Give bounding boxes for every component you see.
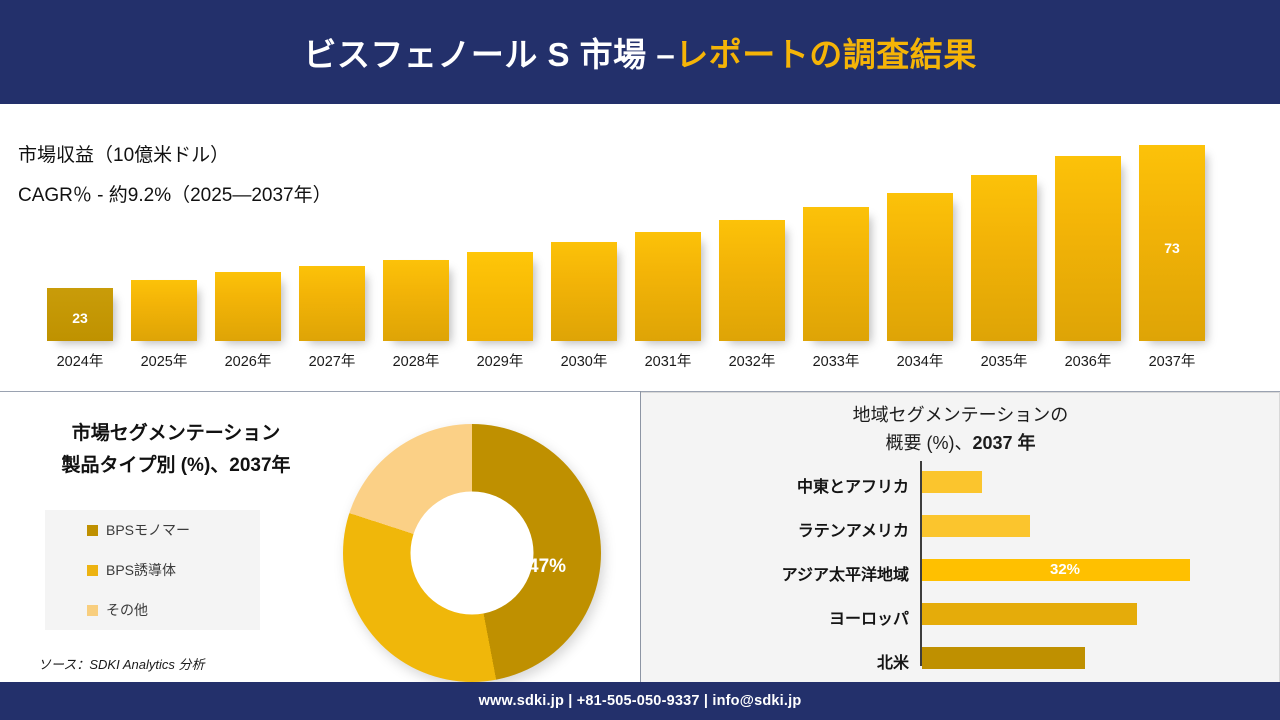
revenue-bar (467, 252, 533, 341)
legend-swatch-icon (87, 605, 98, 616)
donut-chart-wrapper: 47% (332, 414, 622, 682)
revenue-bar-category-label: 2035年 (971, 350, 1037, 371)
regional-bar (922, 471, 982, 493)
revenue-bar-group (215, 272, 281, 341)
revenue-bar-category-label: 2027年 (299, 350, 365, 371)
revenue-bar-group (131, 280, 197, 341)
revenue-bar-group: 73 (1139, 145, 1205, 341)
product-segmentation-panel: 市場セグメンテーション 製品タイプ別 (%)、2037年 BPSモノマーBPS誘… (0, 392, 640, 682)
revenue-chart-section: 市場収益（10億米ドル） CAGR％ - 約9.2%（2025―2037年） 2… (0, 104, 1280, 391)
regional-title-line2: 概要 (%)、2037 年 (641, 429, 1280, 457)
product-segmentation-title-line1: 市場セグメンテーション (26, 418, 326, 450)
regional-title-line1: 地域セグメンテーションの (641, 401, 1280, 429)
product-segmentation-title: 市場セグメンテーション 製品タイプ別 (%)、2037年 (26, 418, 326, 482)
revenue-bar (1055, 156, 1121, 341)
legend-item-label: BPSモノマー (106, 520, 190, 540)
regional-bar (922, 603, 1137, 625)
revenue-bar-category-label: 2030年 (551, 350, 617, 371)
revenue-bar (971, 175, 1037, 341)
legend-item[interactable]: BPS誘導体 (87, 560, 260, 580)
revenue-bar (131, 280, 197, 341)
revenue-bar: 73 (1139, 145, 1205, 341)
revenue-bar-category-label: 2032年 (719, 350, 785, 371)
legend-item[interactable]: BPSモノマー (87, 520, 260, 540)
legend-item-label: その他 (106, 600, 148, 620)
revenue-bar-value: 73 (1139, 240, 1205, 256)
revenue-bar-group (971, 175, 1037, 341)
source-note: ソース：SDKI Analytics 分析 (38, 654, 204, 673)
page-title-accent: レポートの調査結果 (675, 36, 977, 73)
revenue-bar-group (299, 266, 365, 341)
revenue-bar-category-label: 2025年 (131, 350, 197, 371)
legend-swatch-icon (87, 525, 98, 536)
footer-contact-text: www.sdki.jp | +81-505-050-9337 | info@sd… (479, 693, 802, 709)
revenue-bar-category-label: 2034年 (887, 350, 953, 371)
revenue-bar-group (887, 193, 953, 341)
regional-title-line2-b: 2037 年 (972, 433, 1035, 453)
regional-bar-value: 32% (1050, 559, 1080, 581)
regional-category-label: ヨーロッパ (649, 605, 909, 629)
page-title-primary: ビスフェノール S 市場 – (303, 36, 675, 73)
revenue-bar: 23 (47, 288, 113, 341)
revenue-bar (635, 232, 701, 341)
donut-chart (343, 424, 601, 682)
revenue-bar-category-label: 2036年 (1055, 350, 1121, 371)
revenue-bar-category-label: 2024年 (47, 350, 113, 371)
regional-category-label: ラテンアメリカ (649, 517, 909, 541)
legend-item[interactable]: その他 (87, 600, 260, 620)
revenue-bar-category-label: 2031年 (635, 350, 701, 371)
revenue-bars-area: 232024年2025年2026年2027年2028年2029年2030年203… (40, 104, 1260, 391)
revenue-bar (551, 242, 617, 341)
page-title: ビスフェノール S 市場 –レポートの調査結果 (303, 28, 976, 76)
revenue-bar-group (467, 252, 533, 341)
revenue-bar (299, 266, 365, 341)
regional-title-line2-a: 概要 (%)、 (885, 433, 972, 453)
regional-category-label: 北米 (649, 649, 909, 673)
legend-item-label: BPS誘導体 (106, 560, 176, 580)
revenue-bar (215, 272, 281, 341)
donut-hole (411, 492, 534, 615)
revenue-bar-group (1055, 156, 1121, 341)
revenue-bar-category-label: 2028年 (383, 350, 449, 371)
regional-bar (922, 515, 1030, 537)
revenue-bar-category-label: 2029年 (467, 350, 533, 371)
regional-segmentation-panel: 地域セグメンテーションの 概要 (%)、2037 年 中東とアフリカラテンアメリ… (641, 392, 1280, 682)
page-header: ビスフェノール S 市場 –レポートの調査結果 (0, 0, 1280, 104)
regional-segmentation-title: 地域セグメンテーションの 概要 (%)、2037 年 (641, 401, 1280, 457)
infographic-page: ビスフェノール S 市場 –レポートの調査結果 市場収益（10億米ドル） CAG… (0, 0, 1280, 720)
regional-category-label: アジア太平洋地域 (649, 561, 909, 585)
revenue-bar-group (719, 220, 785, 341)
regional-bar (922, 647, 1085, 669)
revenue-bar-group (383, 260, 449, 341)
revenue-bar-value: 23 (47, 310, 113, 326)
revenue-bar-category-label: 2037年 (1139, 350, 1205, 371)
revenue-bar-group (803, 207, 869, 341)
revenue-bar-category-label: 2033年 (803, 350, 869, 371)
revenue-bar-category-label: 2026年 (215, 350, 281, 371)
donut-slice-label: 47% (528, 556, 566, 578)
revenue-bar-group (635, 232, 701, 341)
page-footer: www.sdki.jp | +81-505-050-9337 | info@sd… (0, 682, 1280, 720)
revenue-bar-group (551, 242, 617, 341)
revenue-bar (719, 220, 785, 341)
revenue-bar (887, 193, 953, 341)
revenue-bar (383, 260, 449, 341)
regional-bar: 32% (922, 559, 1190, 581)
legend-swatch-icon (87, 565, 98, 576)
product-legend: BPSモノマーBPS誘導体その他 (45, 510, 260, 630)
product-segmentation-title-line2: 製品タイプ別 (%)、2037年 (26, 450, 326, 482)
revenue-bar (803, 207, 869, 341)
revenue-bar-group: 23 (47, 288, 113, 341)
regional-category-label: 中東とアフリカ (649, 473, 909, 497)
